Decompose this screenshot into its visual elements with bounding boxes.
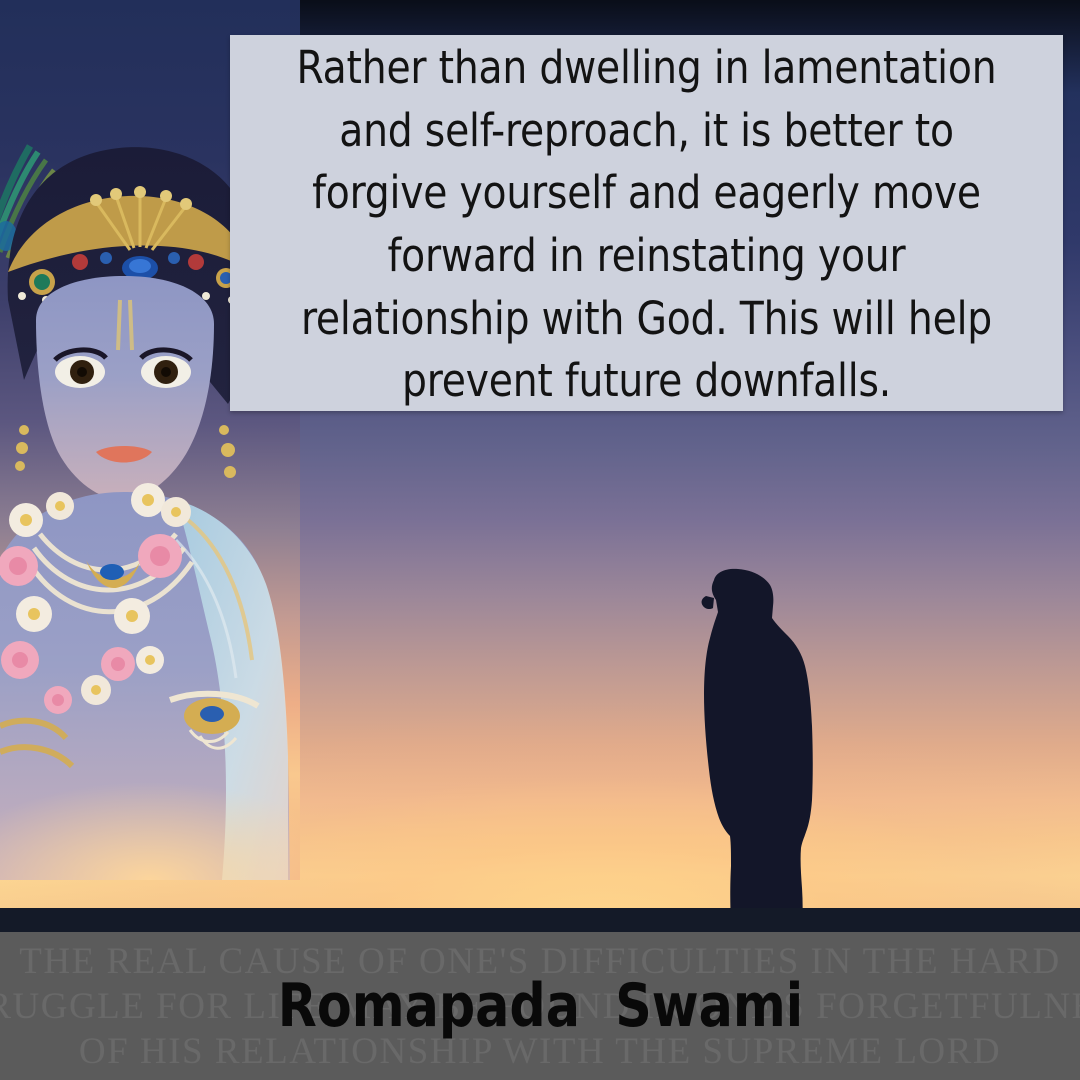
footer-bar: THE REAL CAUSE OF ONE'S DIFFICULTIES IN …	[0, 932, 1080, 1080]
quote-graphic: Rather than dwelling in lamentation and …	[0, 0, 1080, 1080]
dark-divider-band	[0, 908, 1080, 932]
quote-text: Rather than dwelling in lamentation and …	[268, 37, 1026, 412]
author-name: Romapada Swami	[277, 971, 802, 1041]
quote-box: Rather than dwelling in lamentation and …	[230, 35, 1063, 411]
author-attribution: Romapada Swami	[0, 932, 1080, 1080]
